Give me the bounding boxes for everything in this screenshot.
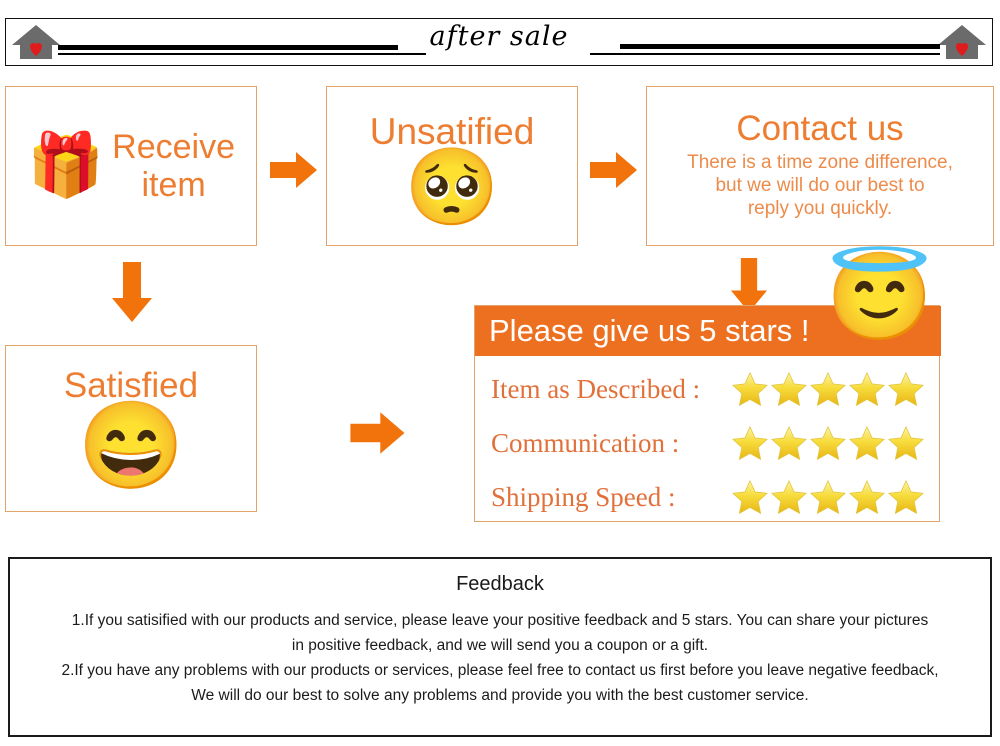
star-icon <box>809 370 847 408</box>
star-icon <box>887 478 925 516</box>
star-icon <box>770 370 808 408</box>
star-rating-communication[interactable] <box>731 424 925 462</box>
star-icon <box>848 478 886 516</box>
contact-us-line3: reply you quickly. <box>653 198 987 221</box>
contact-us-card: Contact us There is a time zone differen… <box>646 86 994 246</box>
contact-us-title: Contact us <box>653 111 987 148</box>
rating-row-item-as-described: Item as Described : <box>491 362 925 416</box>
unsatisfied-card: Unsatified 🥺 <box>326 86 578 246</box>
satisfied-card: Satisfied 😄 <box>5 345 257 512</box>
receive-item-label-line1: Receive <box>112 128 235 166</box>
star-icon <box>887 424 925 462</box>
worried-face-icon: 🥺 <box>327 152 577 224</box>
feedback-line-4: We will do our best to solve any problem… <box>10 683 990 708</box>
feedback-title: Feedback <box>10 573 990 596</box>
feedback-line-3: 2.If you have any problems with our prod… <box>10 658 990 683</box>
rating-rows: Item as Described : Communication : Ship… <box>475 356 939 524</box>
rating-row-shipping-speed: Shipping Speed : <box>491 470 925 524</box>
header-rule-left-thin <box>58 53 426 55</box>
star-icon <box>809 424 847 462</box>
rating-row-communication: Communication : <box>491 416 925 470</box>
receive-item-card: 🎁 Receive item <box>5 86 257 246</box>
star-icon <box>809 478 847 516</box>
star-icon <box>848 424 886 462</box>
star-icon <box>731 478 769 516</box>
feedback-line-2: in positive feedback, and we will send y… <box>10 633 990 658</box>
arrow-down-icon-receive-to-satisfied <box>110 262 154 324</box>
after-sale-infographic: after sale 🎁 Receive item Unsatified 🥺 C… <box>0 0 1000 746</box>
star-icon <box>848 370 886 408</box>
angel-face-icon: 😇 <box>826 254 933 340</box>
feedback-panel: Feedback 1.If you satisified with our pr… <box>8 557 992 737</box>
arrow-right-icon-receive-to-unsatisfied <box>270 150 318 190</box>
rating-label: Shipping Speed : <box>491 482 731 513</box>
header-title: after sale <box>6 21 992 52</box>
header-rule-right-thin <box>590 53 940 55</box>
happy-face-icon: 😄 <box>6 403 256 489</box>
star-icon <box>770 478 808 516</box>
star-icon <box>731 424 769 462</box>
star-rating-shipping-speed[interactable] <box>731 478 925 516</box>
rating-label: Item as Described : <box>491 374 731 405</box>
receive-item-label-line2: item <box>112 166 235 204</box>
gift-icon: 🎁 <box>27 135 104 197</box>
feedback-line-1: 1.If you satisified with our products an… <box>10 608 990 633</box>
star-rating-item-as-described[interactable] <box>731 370 925 408</box>
arrow-right-icon-satisfied-to-rating <box>350 410 406 456</box>
header-banner: after sale <box>5 18 993 66</box>
star-icon <box>887 370 925 408</box>
star-icon <box>770 424 808 462</box>
contact-us-line1: There is a time zone difference, <box>653 152 987 175</box>
star-icon <box>731 370 769 408</box>
arrow-right-icon-unsatisfied-to-contact <box>590 150 638 190</box>
rating-label: Communication : <box>491 428 731 459</box>
contact-us-line2: but we will do our best to <box>653 175 987 198</box>
